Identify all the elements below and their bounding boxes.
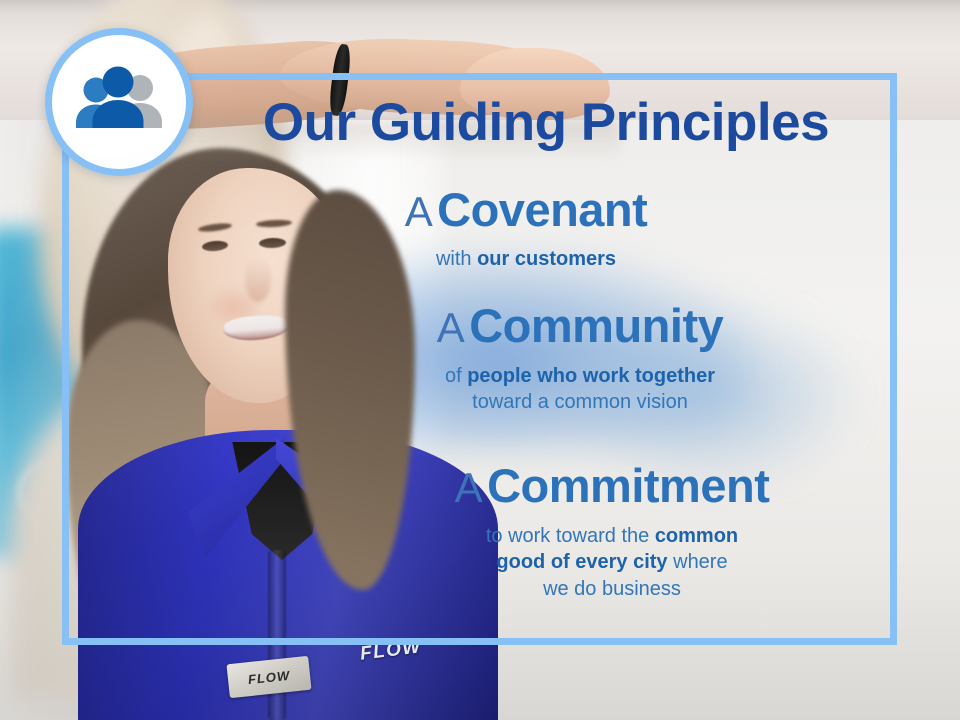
principle-community-subtext: of people who work togethertoward a comm… — [330, 363, 830, 416]
name-badge-text: FLOW — [247, 668, 290, 685]
principle-community-article: A — [437, 304, 465, 351]
principle-community: A Community of people who work togethert… — [330, 302, 830, 416]
subtext-line: with our customers — [276, 246, 776, 272]
page-title: Our Guiding Principles — [216, 96, 876, 149]
principle-commitment-heading: A Commitment — [352, 462, 872, 509]
subtext-line: we do business — [352, 576, 872, 602]
subtext-line: toward a common vision — [330, 389, 830, 415]
subject-nose — [245, 258, 271, 302]
guiding-principles-graphic: FLOW FLOW Our Guiding Principles A C — [0, 0, 960, 720]
principle-commitment-subtext: to work toward the commongood of every c… — [352, 523, 872, 602]
principle-covenant-heading: A Covenant — [276, 186, 776, 233]
people-group-icon — [71, 66, 167, 138]
principle-commitment-word: Commitment — [487, 459, 769, 512]
principle-covenant-word: Covenant — [437, 183, 647, 236]
principle-covenant-subtext: with our customers — [276, 246, 776, 272]
principle-commitment: A Commitment to work toward the commongo… — [352, 462, 872, 602]
principle-community-word: Community — [469, 299, 723, 352]
people-group-badge — [45, 28, 193, 176]
subtext-line: to work toward the common — [352, 523, 872, 549]
principle-covenant: A Covenant with our customers — [276, 186, 776, 272]
subject-shirt-placket — [268, 550, 286, 720]
subtext-line: good of every city where — [352, 549, 872, 575]
subtext-line: of people who work together — [330, 363, 830, 389]
principle-covenant-article: A — [405, 188, 433, 235]
principle-commitment-article: A — [455, 464, 483, 511]
principle-community-heading: A Community — [330, 302, 830, 349]
